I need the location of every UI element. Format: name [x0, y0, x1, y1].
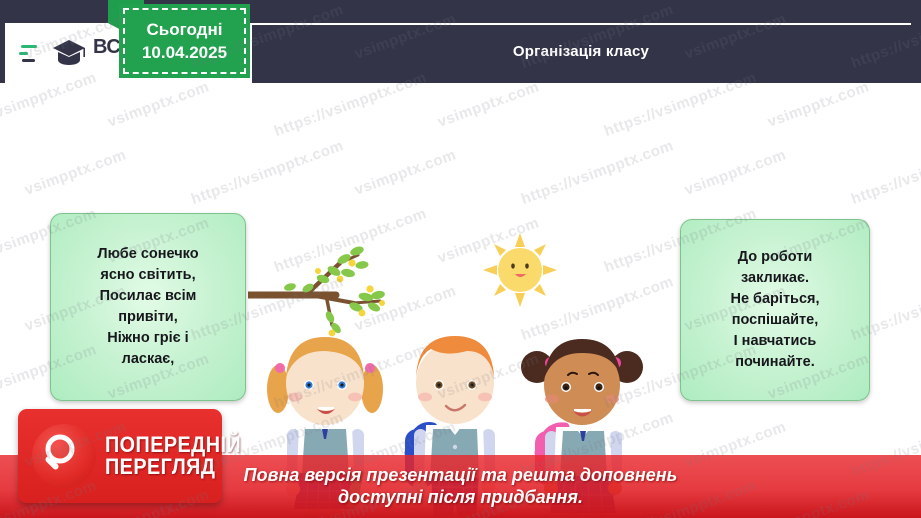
verse-left-text: Любе сонечко ясно світить, Посилає всім … — [97, 244, 198, 371]
smiling-sun-icon — [481, 231, 559, 309]
date-badge-label: Сьогодні — [147, 20, 223, 40]
banner-line-1: Повна версія презентації та решта доповн… — [244, 465, 678, 487]
preview-badge-text: ПОПЕРЕДНІЙ ПЕРЕГЛЯД — [105, 434, 256, 479]
verse-box-left: Любе сонечко ясно світить, Посилає всім … — [50, 213, 246, 401]
page-title: Організація класу — [513, 43, 649, 60]
banner-line-2: доступні після придбання. — [338, 487, 583, 509]
preview-badge[interactable]: ПОПЕРЕДНІЙ ПЕРЕГЛЯД — [18, 409, 222, 503]
date-badge-value: 10.04.2025 — [142, 43, 227, 63]
verse-box-right: До роботи закликає. Не баріться, поспіша… — [680, 219, 870, 401]
speed-lines-icon — [19, 39, 45, 67]
header-title-bar: Організація класу — [251, 23, 911, 77]
magnifier-icon — [32, 424, 96, 488]
verse-right-text: До роботи закликає. Не баріться, поспіша… — [730, 247, 819, 374]
preview-badge-line-2: ПЕРЕГЛЯД — [105, 456, 241, 478]
preview-badge-line-1: ПОПЕРЕДНІЙ — [105, 434, 241, 456]
graduation-cap-icon — [52, 38, 86, 68]
date-badge: Сьогодні 10.04.2025 — [119, 4, 250, 78]
slide-root: Організація класу ВСІМ pptx Сьогодні 10.… — [0, 0, 921, 518]
